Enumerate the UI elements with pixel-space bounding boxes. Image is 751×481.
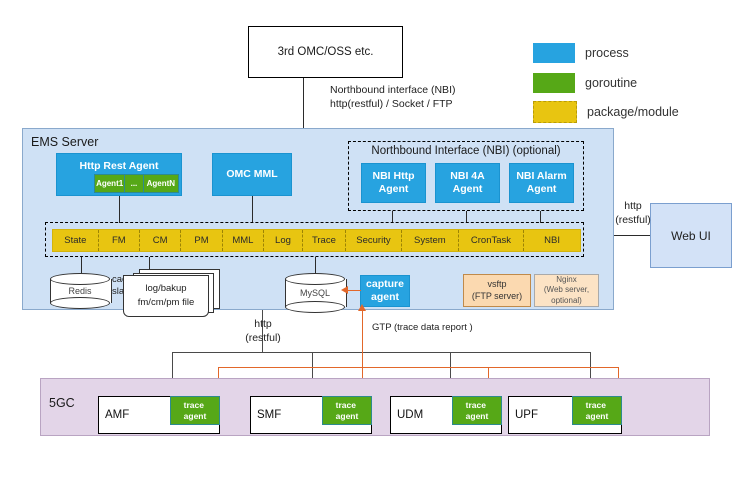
edge-label-northbound: Northbound interface (NBI) http(restful)…	[330, 84, 545, 111]
nf-udm[interactable]: UDM trace agent	[390, 396, 502, 434]
module-mml[interactable]: MML	[223, 230, 264, 251]
goroutine-agent-ellipsis: ...	[125, 174, 142, 193]
gc-panel-title: 5GC	[49, 396, 75, 410]
process-nbi-4a-agent-label: NBI 4A Agent	[450, 170, 484, 196]
datastore-redis[interactable]: Redis	[50, 273, 110, 309]
nf-amf-label: AMF	[105, 409, 129, 421]
module-cm[interactable]: CM	[140, 230, 181, 251]
legend-swatch-module	[533, 101, 577, 123]
ems-server-panel: EMS Server Http Rest Agent Agent1 ... Ag…	[22, 128, 614, 310]
connector-modules-to-files	[149, 257, 150, 269]
process-nbi-alarm-agent[interactable]: NBI Alarm Agent	[509, 163, 574, 203]
arrowhead-gtp-to-capture-agent	[358, 304, 366, 311]
edge-label-gc-gtp: GTP (trace data report )	[372, 322, 562, 334]
legend-item-goroutine: goroutine	[533, 73, 637, 93]
module-security[interactable]: Security	[346, 230, 402, 251]
nbi-group: Northbound Interface (NBI) (optional) NB…	[348, 141, 584, 211]
process-nbi-http-agent[interactable]: NBI Http Agent	[361, 163, 426, 203]
process-omc-mml-label: OMC MML	[226, 168, 277, 181]
process-http-rest-agent-label: Http Rest Agent	[80, 160, 159, 173]
service-vsftp-name: vsftp	[487, 279, 506, 291]
module-crontask[interactable]: CronTask	[459, 230, 524, 251]
goroutine-trace-agent-smf[interactable]: trace agent	[322, 396, 372, 425]
connector-modules-to-mysql	[315, 257, 316, 273]
module-bar-group: State FM CM PM MML Log Trace Security Sy…	[45, 222, 584, 257]
datastore-mysql[interactable]: MySQL	[285, 273, 345, 313]
connector-ems-to-webui	[614, 235, 650, 236]
nf-smf[interactable]: SMF trace agent	[250, 396, 372, 434]
service-nginx[interactable]: Nginx (Web server, optional)	[534, 274, 599, 307]
module-bar: State FM CM PM MML Log Trace Security Sy…	[52, 229, 581, 252]
file-label-line2: fm/cm/pm file	[138, 296, 194, 310]
process-capture-agent-label: capture agent	[366, 278, 404, 304]
nbi-group-title: Northbound Interface (NBI) (optional)	[349, 145, 583, 157]
service-vsftp-sub: (FTP server)	[472, 291, 522, 303]
legend-swatch-process	[533, 43, 575, 63]
nf-upf[interactable]: UPF trace agent	[508, 396, 622, 434]
legend-item-module: package/module	[533, 101, 679, 123]
legend-label-goroutine: goroutine	[585, 76, 637, 90]
node-3rd-omc-oss-label: 3rd OMC/OSS etc.	[278, 46, 374, 58]
service-nginx-name: Nginx	[556, 275, 576, 285]
nf-smf-label: SMF	[257, 409, 281, 421]
datastore-redis-label: Redis	[50, 273, 110, 309]
connector-omc-to-ems	[303, 78, 304, 128]
goroutine-agent1[interactable]: Agent1	[94, 174, 125, 193]
process-nbi-http-agent-label: NBI Http Agent	[373, 170, 415, 196]
diagram-canvas: 3rd OMC/OSS etc. Northbound interface (N…	[0, 0, 751, 481]
module-log[interactable]: Log	[264, 230, 303, 251]
goroutine-trace-agent-udm[interactable]: trace agent	[452, 396, 502, 425]
nf-amf[interactable]: AMF trace agent	[98, 396, 220, 434]
edge-label-gc-http: http (restful)	[238, 318, 288, 345]
legend-item-process: process	[533, 43, 629, 63]
legend-label-process: process	[585, 46, 629, 60]
module-state[interactable]: State	[53, 230, 99, 251]
datastore-mysql-label: MySQL	[285, 273, 345, 313]
connector-httprest-to-modules	[119, 196, 120, 223]
legend-swatch-goroutine	[533, 73, 575, 93]
process-nbi-4a-agent[interactable]: NBI 4A Agent	[435, 163, 500, 203]
node-3rd-omc-oss[interactable]: 3rd OMC/OSS etc.	[248, 26, 403, 78]
connector-modules-to-redis	[81, 257, 82, 273]
process-nbi-alarm-agent-label: NBI Alarm Agent	[516, 170, 566, 196]
module-system[interactable]: System	[402, 230, 459, 251]
process-omc-mml[interactable]: OMC MML	[212, 153, 292, 196]
goroutine-trace-agent-amf[interactable]: trace agent	[170, 396, 220, 425]
nf-udm-label: UDM	[397, 409, 423, 421]
connector-gtp-trunk	[362, 310, 363, 367]
module-fm[interactable]: FM	[99, 230, 140, 251]
process-capture-agent[interactable]: capture agent	[360, 275, 410, 307]
node-web-ui-label: Web UI	[671, 229, 711, 243]
connector-http-bus	[172, 352, 590, 353]
module-nbi[interactable]: NBI	[524, 230, 580, 251]
service-nginx-sub: (Web server, optional)	[544, 285, 589, 306]
datastore-log-files[interactable]: log/bakup fm/cm/pm file	[123, 269, 218, 317]
connector-gtp-bus	[218, 367, 618, 368]
service-vsftp[interactable]: vsftp (FTP server)	[463, 274, 531, 307]
connector-capture-to-mysql	[347, 290, 361, 291]
nf-upf-label: UPF	[515, 409, 538, 421]
goroutine-group-http-rest-agent: Agent1 ... AgentN	[94, 174, 179, 193]
module-trace[interactable]: Trace	[303, 230, 346, 251]
file-label-line1: log/bakup	[145, 282, 186, 296]
goroutine-trace-agent-upf[interactable]: trace agent	[572, 396, 622, 425]
edge-label-webui-http: http (restful)	[609, 200, 657, 227]
module-pm[interactable]: PM	[181, 230, 222, 251]
node-web-ui[interactable]: Web UI	[650, 203, 732, 268]
goroutine-agentn[interactable]: AgentN	[143, 174, 179, 193]
legend-label-module: package/module	[587, 105, 679, 119]
ems-server-title: EMS Server	[31, 135, 98, 149]
file-sheet-front: log/bakup fm/cm/pm file	[123, 275, 209, 317]
connector-omcmml-to-modules	[252, 196, 253, 223]
